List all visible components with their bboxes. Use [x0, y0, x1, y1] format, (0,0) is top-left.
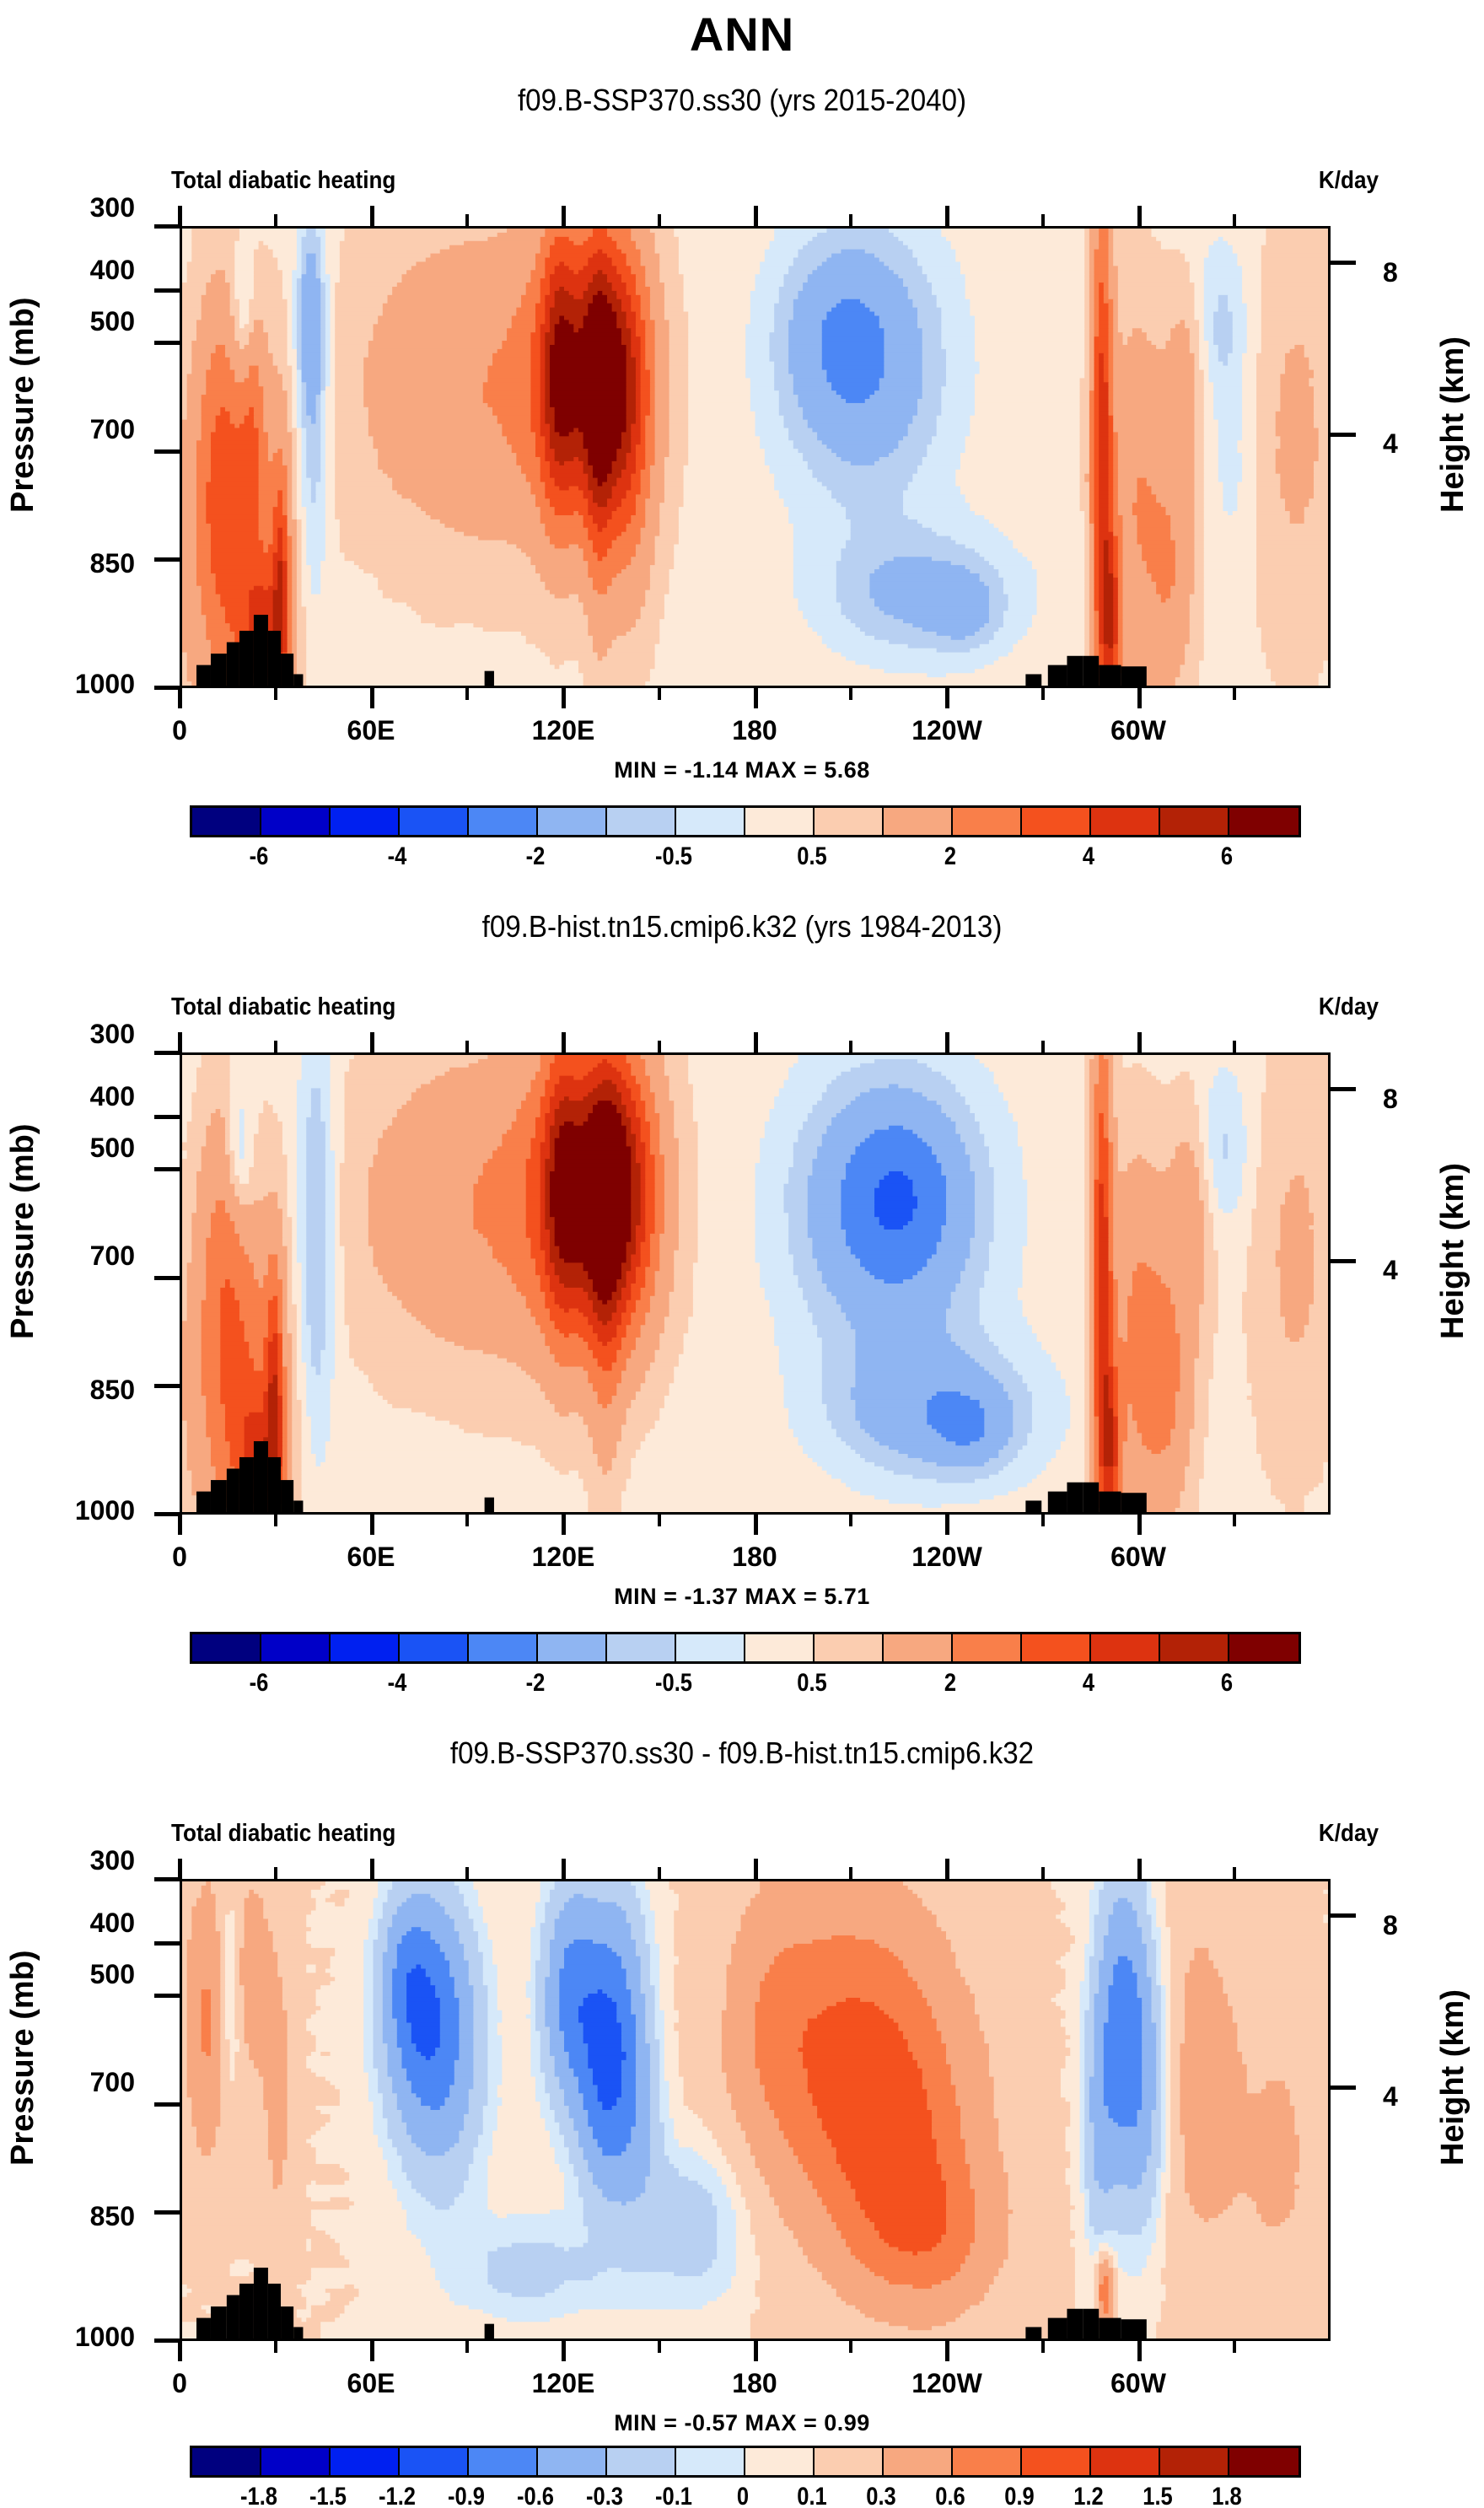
x-tick-mark — [1137, 2341, 1142, 2361]
panel-3-xtick-60E: 60E — [329, 2368, 413, 2399]
x-minor-tick-mark — [465, 214, 469, 226]
panel-3-y2tick-4: 4 — [1383, 2081, 1433, 2112]
panel-1-xtick-0: 0 — [137, 715, 222, 746]
x-tick-mark — [945, 1859, 949, 1879]
x-minor-tick-mark — [465, 1867, 469, 1879]
x-tick-mark — [562, 688, 566, 708]
panel-2-xtick-60W: 60W — [1096, 1542, 1180, 1573]
panel-3-xtick-0: 0 — [137, 2368, 222, 2399]
x-tick-mark — [1137, 206, 1142, 226]
y-tick-mark — [154, 686, 180, 690]
colorbar-swatch — [884, 2448, 953, 2475]
x-minor-tick-mark — [274, 1041, 277, 1052]
panel-1-minmax: MIN = -1.14 MAX = 5.68 — [0, 757, 1484, 783]
panel-3-colorbar-labels: -1.8-1.5-1.2-0.9-0.6-0.3-0.100.10.30.60.… — [190, 2483, 1296, 2508]
panel-2-ytick-850: 850 — [34, 1375, 135, 1406]
y-tick-mark — [154, 557, 180, 562]
y-tick-mark — [154, 1941, 180, 1946]
x-tick-mark — [945, 1032, 949, 1052]
x-tick-mark — [754, 1859, 758, 1879]
x-tick-mark — [754, 206, 758, 226]
panel-3-ytick-700: 700 — [34, 2067, 135, 2098]
panel-3-xtick-120W: 120W — [905, 2368, 989, 2399]
x-minor-tick-mark — [274, 1867, 277, 1879]
panel-2-y2tick-8: 8 — [1383, 1084, 1433, 1115]
x-minor-tick-mark — [1041, 214, 1045, 226]
panel-2-ytick-1000: 1000 — [10, 1495, 135, 1526]
y-tick-mark — [154, 341, 180, 345]
x-tick-mark — [754, 2341, 758, 2361]
y-tick-mark — [154, 2102, 180, 2107]
x-minor-tick-mark — [274, 688, 277, 700]
y-tick-mark — [154, 449, 180, 454]
panel-1-ytick-700: 700 — [34, 414, 135, 445]
panel-3-colorbar-strip — [190, 2446, 1301, 2478]
x-minor-tick-mark — [274, 214, 277, 226]
colorbar-swatch — [469, 2448, 538, 2475]
x-minor-tick-mark — [1041, 688, 1045, 700]
panel-1-contour-field — [182, 229, 1328, 686]
panel-1-xtick-120W: 120W — [905, 715, 989, 746]
x-minor-tick-mark — [1233, 214, 1236, 226]
panel-3-minmax: MIN = -0.57 MAX = 0.99 — [0, 2410, 1484, 2436]
x-minor-tick-mark — [849, 2341, 852, 2353]
panel-3-xtick-180: 180 — [712, 2368, 797, 2399]
x-tick-mark — [1137, 688, 1142, 708]
x-minor-tick-mark — [1041, 1867, 1045, 1879]
x-minor-tick-mark — [1233, 1515, 1236, 1526]
x-tick-mark — [562, 206, 566, 226]
colorbar-swatch — [331, 2448, 400, 2475]
panel-1-y2tick-8: 8 — [1383, 257, 1433, 288]
y-tick-mark — [154, 288, 180, 293]
panel-3-y2tick-8: 8 — [1383, 1910, 1433, 1941]
x-minor-tick-mark — [1233, 1041, 1236, 1052]
y2-tick-mark — [1331, 1259, 1356, 1263]
panel-2-title: f09.B-hist.tn15.cmip6.k32 (yrs 1984-2013… — [59, 909, 1424, 945]
colorbar-swatch — [192, 2448, 261, 2475]
panel-3-xtick-60W: 60W — [1096, 2368, 1180, 2399]
x-tick-mark — [562, 2341, 566, 2361]
colorbar-swatch — [1091, 2448, 1160, 2475]
panel-2-y2-axis-title: Height (km) — [1435, 977, 1471, 1339]
panel-2: f09.B-hist.tn15.cmip6.k32 (yrs 1984-2013… — [0, 826, 1484, 1703]
x-minor-tick-mark — [658, 1041, 661, 1052]
figure-page: ANN f09.B-SSP370.ss30 (yrs 2015-2040) To… — [0, 0, 1484, 2508]
colorbar-swatch — [953, 2448, 1022, 2475]
x-tick-mark — [178, 1859, 182, 1879]
panel-1-title: f09.B-SSP370.ss30 (yrs 2015-2040) — [59, 83, 1424, 118]
colorbar-swatch — [261, 2448, 331, 2475]
colorbar-swatch — [538, 2448, 607, 2475]
x-tick-mark — [1137, 1515, 1142, 1535]
x-minor-tick-mark — [658, 688, 661, 700]
x-minor-tick-mark — [849, 1041, 852, 1052]
x-tick-mark — [370, 688, 374, 708]
x-tick-mark — [1137, 1032, 1142, 1052]
x-tick-mark — [370, 206, 374, 226]
panel-3-units-label: K/day — [1319, 1820, 1379, 1848]
x-minor-tick-mark — [1041, 1515, 1045, 1526]
x-tick-mark — [945, 206, 949, 226]
panel-1-ytick-500: 500 — [34, 306, 135, 337]
y-tick-mark — [154, 1877, 180, 1881]
x-tick-mark — [178, 2341, 182, 2361]
colorbar-swatch — [400, 2448, 469, 2475]
panel-2-xtick-60E: 60E — [329, 1542, 413, 1573]
panel-2-ytick-700: 700 — [34, 1241, 135, 1272]
panel-1-ytick-400: 400 — [34, 255, 135, 286]
panel-3-ytick-500: 500 — [34, 1959, 135, 1990]
y-tick-mark — [154, 1384, 180, 1388]
x-tick-mark — [370, 1515, 374, 1535]
panel-3-field-label: Total diabatic heating — [171, 1820, 395, 1848]
panel-2-plot[interactable] — [180, 1052, 1331, 1515]
panel-1-units-label: K/day — [1319, 167, 1379, 195]
x-minor-tick-mark — [849, 214, 852, 226]
panel-3-title: f09.B-SSP370.ss30 - f09.B-hist.tn15.cmip… — [59, 1736, 1424, 1771]
y-tick-mark — [154, 1994, 180, 1998]
colorbar-swatch — [1160, 2448, 1229, 2475]
x-tick-mark — [178, 206, 182, 226]
y2-tick-mark — [1331, 433, 1356, 437]
x-tick-mark — [370, 1859, 374, 1879]
y2-tick-mark — [1331, 1913, 1356, 1918]
y2-tick-mark — [1331, 261, 1356, 265]
x-minor-tick-mark — [1041, 2341, 1045, 2353]
panel-1-plot[interactable] — [180, 226, 1331, 688]
colorbar-swatch — [676, 2448, 745, 2475]
x-minor-tick-mark — [274, 2341, 277, 2353]
panel-1-y2-axis-title: Height (km) — [1435, 150, 1471, 513]
x-minor-tick-mark — [465, 2341, 469, 2353]
x-minor-tick-mark — [1233, 2341, 1236, 2353]
panel-3-ytick-300: 300 — [34, 1845, 135, 1876]
y-tick-mark — [154, 1276, 180, 1280]
x-minor-tick-mark — [1041, 1041, 1045, 1052]
panel-3-xtick-120E: 120E — [521, 2368, 605, 2399]
colorbar-swatch — [745, 2448, 815, 2475]
x-minor-tick-mark — [658, 1515, 661, 1526]
x-minor-tick-mark — [1233, 688, 1236, 700]
panel-1-y2tick-4: 4 — [1383, 428, 1433, 460]
panel-2-contour-field — [182, 1055, 1328, 1512]
panel-2-xtick-180: 180 — [712, 1542, 797, 1573]
x-minor-tick-mark — [465, 1041, 469, 1052]
x-minor-tick-mark — [465, 688, 469, 700]
panel-2-xtick-0: 0 — [137, 1542, 222, 1573]
panel-1: f09.B-SSP370.ss30 (yrs 2015-2040) Total … — [0, 0, 1484, 877]
y2-tick-mark — [1331, 1087, 1356, 1091]
x-tick-mark — [754, 1032, 758, 1052]
x-tick-mark — [945, 1515, 949, 1535]
panel-3-colorbar: -1.8-1.5-1.2-0.9-0.6-0.3-0.100.10.30.60.… — [0, 2446, 1484, 2508]
colorbar-tick-label: 1.8 — [1184, 2483, 1270, 2508]
y-tick-mark — [154, 2210, 180, 2215]
panel-3-ytick-850: 850 — [34, 2201, 135, 2232]
y-tick-mark — [154, 1167, 180, 1171]
x-tick-mark — [370, 2341, 374, 2361]
panel-2-xtick-120E: 120E — [521, 1542, 605, 1573]
y-tick-mark — [154, 2338, 180, 2343]
x-tick-mark — [754, 1515, 758, 1535]
x-tick-mark — [562, 1515, 566, 1535]
x-tick-mark — [945, 688, 949, 708]
x-minor-tick-mark — [465, 1515, 469, 1526]
panel-1-ytick-850: 850 — [34, 548, 135, 579]
panel-2-ytick-500: 500 — [34, 1133, 135, 1164]
colorbar-swatch — [815, 2448, 884, 2475]
x-tick-mark — [754, 688, 758, 708]
x-minor-tick-mark — [849, 1867, 852, 1879]
y-tick-mark — [154, 1512, 180, 1516]
x-tick-mark — [370, 1032, 374, 1052]
y-tick-mark — [154, 224, 180, 229]
x-minor-tick-mark — [274, 1515, 277, 1526]
x-minor-tick-mark — [849, 688, 852, 700]
colorbar-swatch — [1022, 2448, 1091, 2475]
panel-1-xtick-60E: 60E — [329, 715, 413, 746]
panel-1-ytick-300: 300 — [34, 192, 135, 223]
panel-3: f09.B-SSP370.ss30 - f09.B-hist.tn15.cmip… — [0, 1653, 1484, 2508]
panel-1-ytick-1000: 1000 — [10, 669, 135, 700]
x-minor-tick-mark — [658, 1867, 661, 1879]
x-tick-mark — [178, 1032, 182, 1052]
panel-2-y2tick-4: 4 — [1383, 1255, 1433, 1286]
panel-1-xtick-60W: 60W — [1096, 715, 1180, 746]
panel-3-plot[interactable] — [180, 1879, 1331, 2341]
y-tick-mark — [154, 1115, 180, 1119]
x-minor-tick-mark — [849, 1515, 852, 1526]
panel-1-xtick-120E: 120E — [521, 715, 605, 746]
x-tick-mark — [945, 2341, 949, 2361]
colorbar-swatch — [607, 2448, 676, 2475]
x-minor-tick-mark — [658, 2341, 661, 2353]
x-tick-mark — [1137, 1859, 1142, 1879]
panel-2-minmax: MIN = -1.37 MAX = 5.71 — [0, 1584, 1484, 1610]
panel-2-ytick-300: 300 — [34, 1019, 135, 1050]
y2-tick-mark — [1331, 2086, 1356, 2090]
x-tick-mark — [178, 688, 182, 708]
panel-2-xtick-120W: 120W — [905, 1542, 989, 1573]
panel-3-y2-axis-title: Height (km) — [1435, 1803, 1471, 2166]
y-tick-mark — [154, 1051, 180, 1055]
x-minor-tick-mark — [1233, 1867, 1236, 1879]
x-tick-mark — [562, 1032, 566, 1052]
x-tick-mark — [178, 1515, 182, 1535]
x-tick-mark — [562, 1859, 566, 1879]
panel-3-ytick-400: 400 — [34, 1908, 135, 1939]
panel-1-xtick-180: 180 — [712, 715, 797, 746]
panel-2-units-label: K/day — [1319, 993, 1379, 1021]
x-minor-tick-mark — [658, 214, 661, 226]
panel-2-ytick-400: 400 — [34, 1081, 135, 1112]
panel-3-ytick-1000: 1000 — [10, 2322, 135, 2353]
panel-1-field-label: Total diabatic heating — [171, 167, 395, 195]
colorbar-swatch — [1229, 2448, 1298, 2475]
panel-2-field-label: Total diabatic heating — [171, 993, 395, 1021]
panel-3-contour-field — [182, 1881, 1328, 2338]
